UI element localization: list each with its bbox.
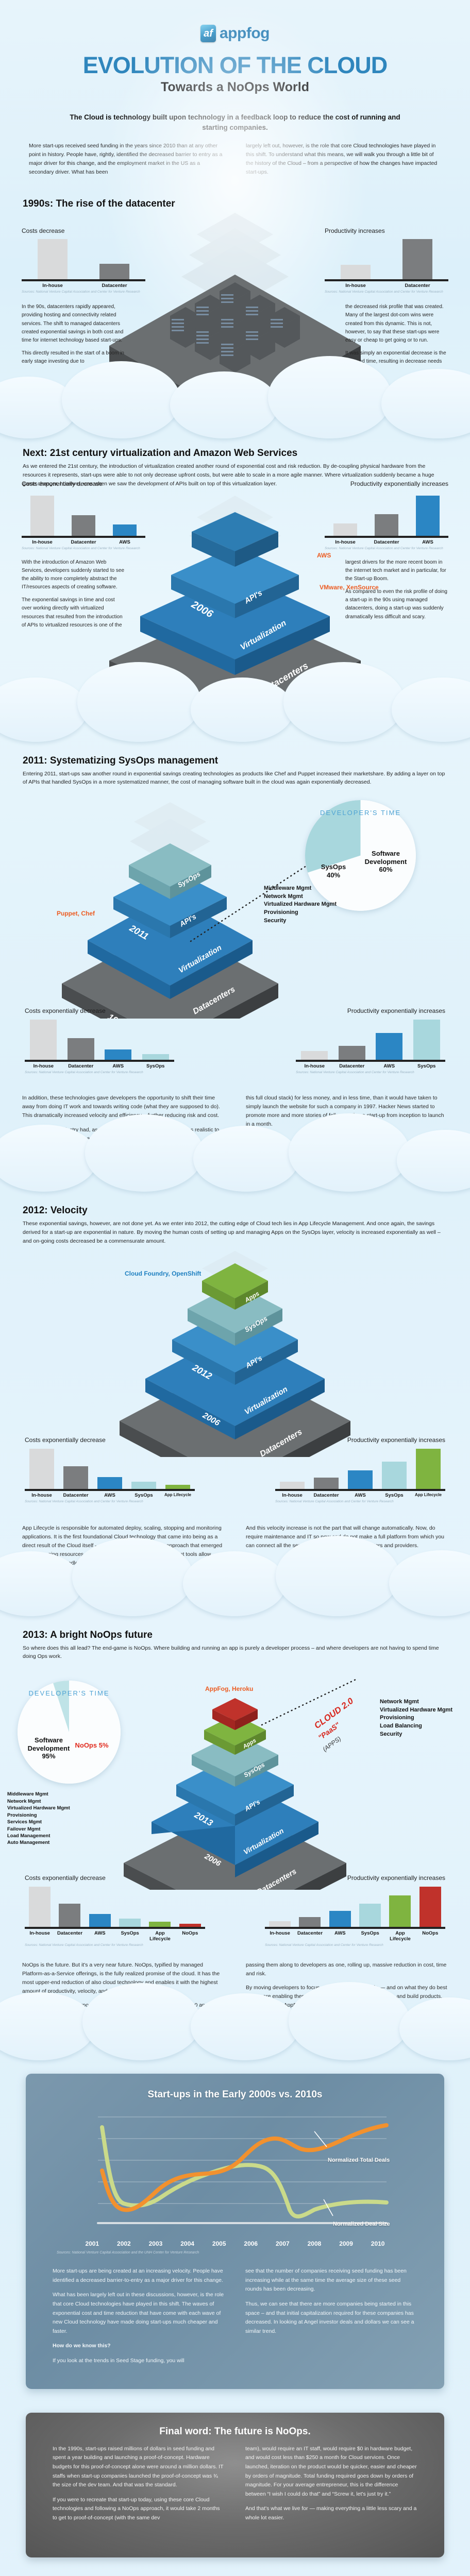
bar-label: Datacenter	[309, 1493, 343, 1498]
body-paragraph: see that the number of companies receivi…	[245, 2267, 417, 2294]
section-1990s-title: 1990s: The rise of the datacenter	[23, 198, 470, 210]
page-subtitle: Towards a NoOps World	[0, 80, 470, 95]
chart-source: Sources: National Venture Capital Associ…	[265, 1943, 445, 1948]
section-2013-title: 2013: A bright NoOps future	[23, 1630, 470, 1641]
chart-costs-2012: In-house Datacenter AWS SysOps App Lifec…	[25, 1449, 195, 1504]
chart-costs-bars	[22, 496, 145, 536]
chart-source: Sources: National Venture Capital Associ…	[25, 1071, 174, 1075]
startups-line-chart	[26, 2107, 444, 2235]
chart-costs-caption: Costs exponentially decrease	[25, 1436, 106, 1444]
body-1990s-left: In the 90s, datacenters rapidly appeared…	[22, 303, 125, 370]
chart-source: Sources: National Venture Capital Associ…	[275, 1500, 445, 1504]
chart-source: Sources: National Venture Capital Associ…	[25, 1943, 205, 1948]
bar-label: NoOps	[175, 1930, 205, 1942]
chart-title: Start-ups in the Early 2000s vs. 2010s	[26, 2089, 444, 2100]
chart-axis	[325, 536, 448, 538]
bar-label: In-house	[296, 1063, 333, 1069]
chart-productivity-labels: In-house Datacenter AWS SysOps	[296, 1063, 445, 1069]
chart-costs-bars	[22, 239, 145, 279]
chart-costs-labels: In-house Datacenter AWS SysOps App Lifec…	[25, 1930, 205, 1942]
bar-label: AWS	[104, 539, 145, 545]
body-paragraph: And that's what we live for — making eve…	[245, 2504, 417, 2522]
chart-x-axis-labels: 2001 2002 2003 2004 2005 2006 2007 2008 …	[26, 2240, 444, 2247]
chart-productivity-labels: In-house Datacenter AWS SysOps App Lifec…	[265, 1930, 445, 1942]
bar-label: App Lifecycle	[145, 1930, 175, 1942]
body-paragraph: largest drivers for the more recent boom…	[345, 558, 448, 584]
chart-productivity-caption: Productivity increases	[325, 227, 448, 234]
section-2000s: Next: 21st century virtualization and Am…	[0, 448, 470, 703]
chart-costs-bars	[25, 1020, 174, 1060]
bar-label: AWS	[99, 1063, 137, 1069]
infographic-page: af appfog EVOLUTION OF THE CLOUD Towards…	[0, 0, 470, 2576]
bar-label: Datacenter	[62, 1063, 100, 1069]
paas-covered-list: Network Mgmt Virtualized Hardware Mgmt P…	[380, 1698, 452, 1738]
panel-text-right: see that the number of companies receivi…	[245, 2267, 417, 2371]
bar-label: AWS	[325, 1930, 355, 1942]
tag-puppet-chef: Puppet, Chef	[57, 910, 95, 918]
cloud-divider-4	[0, 1578, 470, 1616]
final-word-panel: Final word: The future is NoOps. In the …	[26, 2413, 444, 2557]
chart-productivity-bars	[265, 1887, 445, 1927]
bar-label: In-house	[265, 1930, 295, 1942]
chart-axis	[22, 279, 145, 281]
body-paragraph: team), would require an IT staff, would …	[245, 2445, 417, 2499]
chart-axis	[265, 1927, 445, 1929]
chart-costs-bars	[25, 1449, 195, 1489]
chart-costs-caption: Costs decrease	[22, 227, 145, 234]
body-2000s-left: With the introduction of Amazon Web Serv…	[22, 558, 125, 635]
list-item: Network Mgmt	[380, 1698, 452, 1706]
x-tick: 2001	[76, 2240, 108, 2247]
final-word-right: team), would require an IT staff, would …	[245, 2445, 417, 2529]
body-paragraph: In addition, these technologies gave dev…	[22, 1094, 224, 1120]
section-2013-intro: So where does this all lead? The end-gam…	[23, 1644, 447, 1662]
body-paragraph: What has been largely left out in these …	[53, 2291, 225, 2336]
chart-productivity-labels: In-house Datacenter	[325, 283, 448, 289]
chart-axis	[275, 1489, 445, 1491]
bar-label: In-house	[22, 283, 83, 289]
cloud-divider-1	[0, 400, 470, 438]
body-paragraph: In the 1990s, start-ups raised millions …	[53, 2445, 225, 2490]
bar-label: SysOps	[115, 1930, 145, 1942]
list-item: Network Mgmt	[264, 893, 337, 901]
chart-axis	[296, 1060, 445, 1062]
chart-costs-caption: Costs exponentially decrease	[25, 1007, 106, 1014]
bar-label: SysOps	[137, 1063, 175, 1069]
intro-text-left: More start-ups received seed funding in …	[29, 142, 224, 177]
chart-costs-caption: Costs exponentially decrease	[25, 1874, 106, 1882]
chart-productivity-1990s: Productivity increases In-house Datacent…	[325, 227, 448, 295]
bar-label: AWS	[343, 1493, 377, 1498]
bar-label: In-house	[22, 539, 63, 545]
bar-label: Datacenter	[63, 539, 104, 545]
body-paragraph: With the introduction of Amazon Web Serv…	[22, 558, 125, 592]
bar-label: AWS	[407, 539, 448, 545]
bar-label: AWS	[93, 1493, 127, 1498]
appfog-wordmark: appfog	[220, 25, 270, 42]
body-subheading: How do we know this?	[53, 2342, 225, 2351]
body-paragraph: In the 90s, datacenters rapidly appeared…	[22, 303, 125, 345]
body-2000s-right: largest drivers for the more recent boom…	[345, 558, 448, 626]
x-tick: 2008	[298, 2240, 330, 2247]
pie-label-sysops: SysOps 40%	[313, 863, 354, 879]
chart-source: Sources: National Venture Capital Associ…	[22, 290, 145, 295]
chart-productivity-2011: In-house Datacenter AWS SysOps Sources: …	[296, 1020, 445, 1075]
bar-label: In-house	[25, 1930, 55, 1942]
chart-source: Sources: National Venture Capital Associ…	[25, 1500, 195, 1504]
bar-label: SysOps	[377, 1493, 411, 1498]
list-item: Load Balancing	[380, 1722, 452, 1731]
chart-costs-2013: In-house Datacenter AWS SysOps App Lifec…	[25, 1887, 205, 1948]
section-2012-intro: These exponential savings, however, are …	[23, 1219, 447, 1245]
pie-heading: DEVELOPER'S TIME	[18, 1689, 121, 1698]
panel-text-left: More start-ups are being created at an i…	[53, 2267, 225, 2371]
legend-deal-size: Normalized Deal Size	[333, 2221, 390, 2227]
tag-appfog-heroku: AppFog, Heroku	[205, 1686, 253, 1693]
bar-label: App Lifecycle	[411, 1493, 445, 1498]
bar-label: SysOps	[408, 1063, 446, 1069]
bar-label: Datacenter	[387, 283, 448, 289]
chart-productivity-caption: Productivity exponentially increases	[347, 1874, 445, 1882]
chart-costs-labels: In-house Datacenter	[22, 283, 145, 289]
brand-header: af appfog	[0, 0, 470, 42]
cloud-divider-5	[0, 2022, 470, 2060]
list-item: Virtualized Hardware Mgmt	[380, 1706, 452, 1715]
pie-heading: DEVELOPER'S TIME	[305, 809, 416, 817]
chart-axis	[325, 279, 448, 281]
body-paragraph: the decreased risk profile that was crea…	[345, 303, 448, 345]
bar-label: In-house	[25, 1063, 62, 1069]
chart-costs-2000s: In-house Datacenter AWS Sources: Nationa…	[22, 496, 145, 551]
chart-productivity-caption: Productivity exponentially increases	[347, 1007, 445, 1014]
bar-label: Datacenter	[366, 539, 407, 545]
intro-col-left: More start-ups received seed funding in …	[29, 142, 224, 177]
x-tick: 2007	[267, 2240, 299, 2247]
chart-productivity-labels: In-house Datacenter AWS	[325, 539, 448, 545]
bar-label: AWS	[85, 1930, 115, 1942]
chart-productivity-caption: Productivity exponentially increases	[350, 480, 448, 487]
body-paragraph: If you look at the trends in Seed Stage …	[53, 2357, 225, 2366]
chart-productivity-caption: Productivity exponentially increases	[347, 1436, 445, 1444]
x-tick: 2005	[203, 2240, 235, 2247]
section-2000s-title: Next: 21st century virtualization and Am…	[23, 448, 470, 459]
startups-chart-panel: Start-ups in the Early 2000s vs. 2010s N…	[26, 2074, 444, 2389]
panel-text-columns: More start-ups are being created at an i…	[26, 2267, 444, 2371]
x-tick: 2010	[362, 2240, 394, 2247]
list-item: Virtualized Hardware Mgmt	[264, 901, 337, 909]
body-paragraph: More start-ups are being created at an i…	[53, 2267, 225, 2285]
bar-label: SysOps	[127, 1493, 161, 1498]
x-tick: 2002	[108, 2240, 140, 2247]
x-tick: 2006	[235, 2240, 267, 2247]
intro-text-right: largely left out, however, is the role t…	[246, 142, 441, 177]
chart-source: Sources: National Venture Capital Associ…	[22, 547, 145, 551]
chart-axis	[25, 1927, 205, 1929]
tag-cloudfoundry-openshift: Cloud Foundry, OpenShift	[125, 1270, 201, 1278]
chart-costs-2011: In-house Datacenter AWS SysOps Sources: …	[25, 1020, 174, 1075]
body-paragraph: As compared to even the risk profile of …	[345, 588, 448, 621]
body-paragraph: If you were to recreate that start-up to…	[53, 2496, 225, 2523]
chart-costs-labels: In-house Datacenter AWS	[22, 539, 145, 545]
bar-label: Datacenter	[59, 1493, 93, 1498]
cloud-divider-3	[0, 1154, 470, 1192]
bar-label: Datacenter	[333, 1063, 371, 1069]
bar-label: App Lifecycle	[161, 1493, 195, 1498]
bar-label: Datacenter	[55, 1930, 85, 1942]
bar-label: SysOps	[355, 1930, 385, 1942]
section-2012-title: 2012: Velocity	[23, 1205, 470, 1216]
velocity-pyramid-illustration: 1990's Datacenters Virtualization API's …	[0, 1251, 470, 1457]
chart-productivity-bars	[296, 1020, 445, 1060]
x-tick: 2009	[330, 2240, 362, 2247]
chart-productivity-bars	[325, 239, 448, 279]
final-word-title: Final word: The future is NoOps.	[26, 2426, 444, 2437]
x-tick: 2003	[140, 2240, 172, 2247]
lede-statement: The Cloud is technology built upon techn…	[65, 112, 405, 132]
section-1990s: 1990s: The rise of the datacenter	[0, 198, 470, 400]
bar-label: In-house	[275, 1493, 309, 1498]
chart-productivity-bars	[325, 496, 448, 536]
bar-label: In-house	[325, 283, 387, 289]
intro-col-right: largely left out, however, is the role t…	[246, 142, 441, 177]
body-paragraph: passing them along to developers as one,…	[246, 1961, 448, 1978]
chart-source: Sources: National Venture Capital Associ…	[325, 290, 448, 295]
chart-productivity-2012: In-house Datacenter AWS SysOps App Lifec…	[275, 1449, 445, 1504]
bar-label: App Lifecycle	[385, 1930, 415, 1942]
bar-label: AWS	[371, 1063, 408, 1069]
intro-columns: More start-ups received seed funding in …	[29, 142, 441, 177]
list-item: Middleware Mgmt	[264, 885, 337, 893]
bar-label: Datacenter	[295, 1930, 325, 1942]
sysops-responsibilities-list: Middleware Mgmt Network Mgmt Virtualized…	[264, 885, 337, 925]
body-paragraph: The exponential savings in time and cost…	[22, 596, 125, 630]
list-item: Provisioning	[264, 909, 337, 917]
appfog-mark-icon: af	[200, 25, 216, 42]
page-title: EVOLUTION OF THE CLOUD	[0, 54, 470, 77]
chart-axis	[22, 536, 145, 538]
section-2011-intro: Entering 2011, start-ups saw another rou…	[23, 770, 447, 787]
chart-costs-labels: In-house Datacenter AWS SysOps	[25, 1063, 174, 1069]
chart-productivity-2013: In-house Datacenter AWS SysOps App Lifec…	[265, 1887, 445, 1948]
chart-costs-bars	[25, 1887, 205, 1927]
pie-label-noops: NoOps 5%	[73, 1741, 110, 1750]
list-item: Security	[264, 917, 337, 925]
x-tick: 2004	[172, 2240, 204, 2247]
chart-axis	[25, 1489, 195, 1491]
chart-productivity-labels: In-house Datacenter AWS SysOps App Lifec…	[275, 1493, 445, 1498]
chart-productivity-2000s: In-house Datacenter AWS Sources: Nationa…	[325, 496, 448, 551]
list-item: Provisioning	[380, 1714, 452, 1722]
bar-label: In-house	[325, 539, 366, 545]
section-2013: 2013: A bright NoOps future So where doe…	[0, 1630, 470, 2012]
section-2011-title: 2011: Systematizing SysOps management	[23, 755, 470, 767]
chart-costs-labels: In-house Datacenter AWS SysOps App Lifec…	[25, 1493, 195, 1498]
final-word-columns: In the 1990s, start-ups raised millions …	[26, 2445, 444, 2529]
legend-total-deals: Normalized Total Deals	[328, 2157, 390, 2163]
list-item: Security	[380, 1731, 452, 1739]
chart-costs-caption: Costs exponentially decrease	[22, 480, 103, 487]
chart-source: Sources: National Venture Capital Associ…	[325, 547, 448, 551]
chart-axis	[25, 1060, 174, 1062]
pie-label-software-development: Software Development 60%	[359, 850, 413, 874]
chart-productivity-bars	[275, 1449, 445, 1489]
appfog-logo[interactable]: af appfog	[200, 25, 270, 42]
bar-label: In-house	[25, 1493, 59, 1498]
chart-source: Sources: National Venture Capital Associ…	[296, 1071, 445, 1075]
series-normalized-total-deals	[102, 2125, 387, 2210]
section-2011: 2011: Systematizing SysOps management En…	[0, 755, 470, 1146]
chart-source: Sources: National Venture Capital Associ…	[26, 2251, 444, 2255]
final-word-left: In the 1990s, start-ups raised millions …	[53, 2445, 225, 2529]
bar-label: NoOps	[415, 1930, 445, 1942]
body-paragraph: Thus, we can see that there are more com…	[245, 2300, 417, 2336]
bar-label: Datacenter	[83, 283, 145, 289]
section-2012: 2012: Velocity These exponential savings…	[0, 1205, 470, 1569]
chart-costs-1990s: Costs decrease In-house Datacenter Sourc…	[22, 227, 145, 295]
cloud-divider-2	[0, 704, 470, 742]
pie-label-software-development: Software Development 95%	[22, 1736, 76, 1760]
tag-aws: AWS	[317, 552, 331, 560]
